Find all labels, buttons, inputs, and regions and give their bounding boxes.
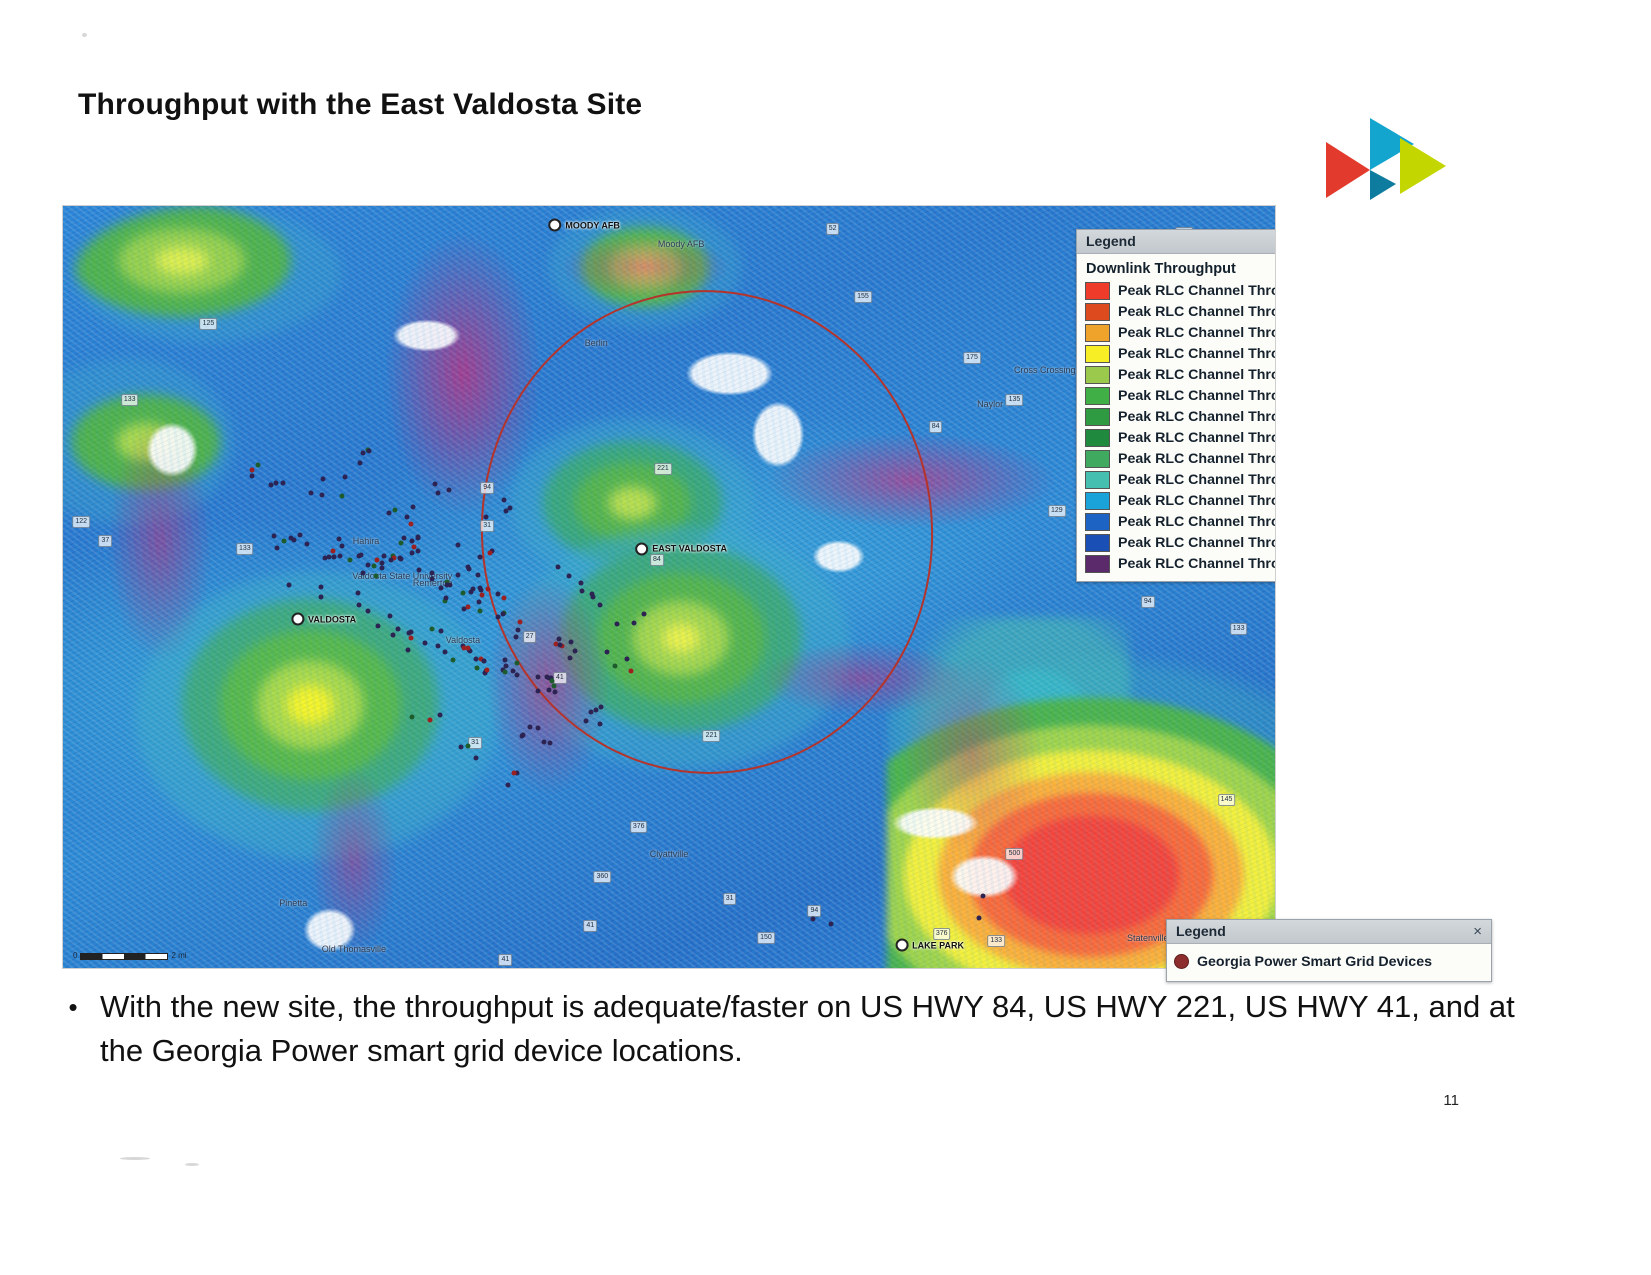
smart-grid-device-dot: [435, 490, 440, 495]
map-site-marker[interactable]: LAKE PARK: [895, 939, 964, 952]
smart-grid-device-dot: [546, 688, 551, 693]
legend-item: Peak RLC Channel Throughput (DL) (kbps) …: [1085, 301, 1276, 322]
smart-grid-device-dot: [475, 665, 480, 670]
smart-grid-device-dot: [477, 554, 482, 559]
smart-grid-device-dot: [486, 586, 491, 591]
legend-item: Peak RLC Channel Throughput (DL) (kbps) …: [1085, 427, 1276, 448]
smart-grid-device-dot: [558, 642, 563, 647]
smart-grid-device-dot: [416, 548, 421, 553]
smart-grid-device-dot: [433, 481, 438, 486]
smart-grid-device-dot: [496, 614, 501, 619]
smart-grid-device-dot: [281, 538, 286, 543]
legend-color-swatch: [1085, 534, 1110, 552]
smart-grid-device-dot: [392, 508, 397, 513]
road-shield-label: 500: [1006, 848, 1024, 860]
smart-grid-device-dot: [598, 603, 603, 608]
smart-grid-device-dot: [550, 678, 555, 683]
smart-grid-device-dot: [410, 539, 415, 544]
smart-grid-device-dot: [430, 626, 435, 631]
smart-grid-device-dot: [356, 602, 361, 607]
smart-grid-device-dot: [599, 705, 604, 710]
smart-grid-device-dot: [338, 553, 343, 558]
smart-grid-device-dot: [409, 635, 414, 640]
legend-item-label: Peak RLC Channel Throughput (DL) (kbps) …: [1118, 283, 1276, 299]
legend-item: Peak RLC Channel Throughput (DL) (kbps) …: [1085, 553, 1276, 574]
smart-grid-device-dot: [321, 477, 326, 482]
smart-grid-device-dot: [281, 480, 286, 485]
smart-grid-device-dot: [828, 921, 833, 926]
legend-item: Peak RLC Channel Throughput (DL) (kbps) …: [1085, 280, 1276, 301]
smart-grid-device-dot: [309, 491, 314, 496]
road-shield-label: 360: [593, 871, 611, 883]
devices-legend-title: Legend: [1176, 923, 1226, 939]
smart-grid-device-dot: [388, 614, 393, 619]
smart-grid-device-dot: [461, 591, 466, 596]
scale-max: 2 mi: [171, 951, 186, 960]
smart-grid-device-dot: [410, 551, 415, 556]
smart-grid-device-dot: [541, 739, 546, 744]
smart-grid-device-dot: [331, 555, 336, 560]
road-shield-label: 133: [236, 543, 254, 555]
smart-grid-device-dot: [476, 573, 481, 578]
smart-grid-device-dot: [319, 595, 324, 600]
smart-grid-device-dot: [287, 583, 292, 588]
smart-grid-device-dot: [470, 586, 475, 591]
legend-title: Legend: [1086, 233, 1136, 249]
road-shield-label: 133: [121, 394, 139, 406]
smart-grid-device-dot: [473, 756, 478, 761]
legend-item: Peak RLC Channel Throughput (DL) (kbps) …: [1085, 406, 1276, 427]
legend-color-swatch: [1085, 345, 1110, 363]
legend-item-label: Peak RLC Channel Throughput (DL) (kbps) …: [1118, 325, 1276, 341]
road-shield-label: 133: [987, 935, 1005, 947]
legend-color-swatch: [1085, 429, 1110, 447]
bullet-list: • With the new site, the throughput is a…: [62, 985, 1542, 1073]
smart-grid-device-dot: [598, 722, 603, 727]
smart-grid-device-dot: [613, 664, 618, 669]
smart-grid-device-dot: [422, 641, 427, 646]
legend-panel-downlink-throughput[interactable]: Legend × Downlink Throughput Peak RLC Ch…: [1076, 229, 1276, 582]
site-dot-icon: [291, 613, 304, 626]
smart-grid-device-dot: [376, 624, 381, 629]
legend-item: Peak RLC Channel Throughput (DL) (kbps) …: [1085, 343, 1276, 364]
road-shield-label: 94: [480, 482, 494, 494]
smart-grid-device-dot: [473, 657, 478, 662]
scan-artifact: [120, 1157, 150, 1160]
smart-grid-device-dot: [429, 570, 434, 575]
bullet-body-text: With the new site, the throughput is ade…: [100, 985, 1542, 1073]
smart-grid-device-dot: [397, 555, 402, 560]
smart-grid-device-dot: [336, 537, 341, 542]
legend-body: Downlink Throughput Peak RLC Channel Thr…: [1077, 254, 1276, 581]
road-shield-label: 145: [1218, 794, 1236, 806]
smart-grid-device-dot: [360, 450, 365, 455]
smart-grid-device-dot: [573, 648, 578, 653]
smart-grid-device-dot: [365, 563, 370, 568]
smart-grid-device-dot: [298, 532, 303, 537]
smart-grid-device-dot: [514, 634, 519, 639]
road-shield-label: 41: [498, 954, 512, 966]
legend-item-georgia-power: Georgia Power Smart Grid Devices: [1169, 951, 1483, 972]
smart-grid-device-dot: [374, 573, 379, 578]
smart-grid-device-dot: [465, 743, 470, 748]
map-place-label: Statenville: [1127, 933, 1169, 943]
list-item: • With the new site, the throughput is a…: [62, 985, 1542, 1073]
map-place-label: Old Thomasville: [322, 944, 386, 954]
smart-grid-device-dot: [288, 536, 293, 541]
site-label: LAKE PARK: [912, 940, 964, 950]
smart-grid-device-dot: [339, 494, 344, 499]
legend-color-swatch: [1085, 408, 1110, 426]
smart-grid-device-dot: [511, 770, 516, 775]
smart-grid-device-dot: [483, 515, 488, 520]
map-scale-bar: 0 2 mi: [73, 951, 187, 960]
smart-grid-device-dot: [273, 481, 278, 486]
legend-item-label: Peak RLC Channel Throughput (DL) (kbps) …: [1118, 493, 1276, 509]
map-place-label: Hahira: [353, 536, 380, 546]
smart-grid-device-dot: [366, 449, 371, 454]
smart-grid-device-dot: [589, 592, 594, 597]
smart-grid-device-dot: [501, 497, 506, 502]
smart-grid-device-dot: [466, 646, 471, 651]
legend-item-label: Peak RLC Channel Throughput (DL) (kbps) …: [1118, 388, 1276, 404]
smart-grid-device-dot: [568, 640, 573, 645]
legend-item: Peak RLC Channel Throughput (DL) (kbps) …: [1085, 385, 1276, 406]
legend-color-swatch: [1085, 282, 1110, 300]
smart-grid-device-dot: [811, 916, 816, 921]
legend-item-label: Peak RLC Channel Throughput (DL) (kbps) …: [1118, 430, 1276, 446]
smart-grid-device-dot: [584, 719, 589, 724]
smart-grid-device-dot: [429, 576, 434, 581]
smart-grid-device-dot: [548, 741, 553, 746]
smart-grid-device-dot: [396, 626, 401, 631]
page-number: 11: [1443, 1092, 1459, 1109]
smart-grid-device-dot: [535, 726, 540, 731]
smart-grid-device-dot: [605, 649, 610, 654]
devices-legend-header: Legend ×: [1167, 920, 1491, 944]
legend-color-swatch: [1085, 555, 1110, 573]
smart-grid-device-dot: [488, 551, 493, 556]
map-site-marker[interactable]: VALDOSTA: [291, 613, 356, 626]
smart-grid-device-dot: [250, 473, 255, 478]
legend-color-swatch: [1085, 492, 1110, 510]
smart-grid-device-dot: [501, 612, 506, 617]
road-shield-label: 94: [808, 905, 822, 917]
scan-artifact: [82, 33, 87, 37]
smart-grid-device-dot: [428, 718, 433, 723]
coverage-map[interactable]: MOODY AFBEAST VALDOSTAVALDOSTALAKE PARKM…: [62, 205, 1276, 969]
smart-grid-device-dot: [465, 604, 470, 609]
scan-artifact: [185, 1163, 199, 1166]
smart-grid-device-dot: [588, 709, 593, 714]
legend-color-swatch: [1085, 513, 1110, 531]
road-shield-label: 376: [630, 821, 648, 833]
smart-grid-device-dot: [459, 744, 464, 749]
smart-grid-device-dot: [502, 658, 507, 663]
logo-svg: [1326, 118, 1468, 200]
smart-grid-device-dot: [445, 583, 450, 588]
brand-triangles-logo: [1326, 118, 1468, 200]
legend-item-label: Peak RLC Channel Throughput (DL) (kbps) …: [1118, 535, 1276, 551]
site-dot-icon: [548, 219, 561, 232]
smart-grid-device-dot: [518, 619, 523, 624]
smart-grid-device-dot: [508, 505, 513, 510]
smart-grid-device-dot: [632, 620, 637, 625]
smart-grid-device-dot: [331, 548, 336, 553]
bullet-marker: •: [62, 985, 84, 1029]
legend-item: Peak RLC Channel Throughput (DL) (kbps) …: [1085, 532, 1276, 553]
legend-panel-smart-grid-devices[interactable]: Legend × Georgia Power Smart Grid Device…: [1166, 919, 1492, 982]
smart-grid-device-dot: [409, 522, 414, 527]
smart-grid-device-dot: [477, 585, 482, 590]
map-place-label: Moody AFB: [658, 239, 705, 249]
legend-item-label: Peak RLC Channel Throughput (DL) (kbps) …: [1118, 451, 1276, 467]
legend-item: Peak RLC Channel Throughput (DL) (kbps) …: [1085, 448, 1276, 469]
legend-group-title: Downlink Throughput: [1086, 261, 1276, 277]
legend-color-swatch: [1085, 471, 1110, 489]
road-shield-label: 122: [72, 516, 90, 528]
smart-grid-device-dot: [304, 541, 309, 546]
road-shield-label: 84: [650, 554, 664, 566]
site-label: VALDOSTA: [308, 614, 356, 624]
legend-item-label: Peak RLC Channel Throughput (DL) (kbps) …: [1118, 514, 1276, 530]
smart-grid-device-dot: [503, 670, 508, 675]
legend-item-label: Peak RLC Channel Throughput (DL) (kbps) …: [1118, 472, 1276, 488]
smart-grid-device-dot: [388, 558, 393, 563]
legend-color-swatch: [1085, 303, 1110, 321]
map-place-label: Pinetta: [279, 898, 307, 908]
smart-grid-device-dot: [624, 656, 629, 661]
smart-grid-device-dot: [380, 561, 385, 566]
smart-grid-device-dot: [536, 688, 541, 693]
smart-grid-device-dot: [439, 628, 444, 633]
legend-item: Peak RLC Channel Throughput (DL) (kbps) …: [1085, 364, 1276, 385]
smart-grid-device-dot: [578, 580, 583, 585]
smart-grid-device-dot: [485, 667, 490, 672]
smart-grid-device-dot: [398, 541, 403, 546]
road-shield-label: 129: [1048, 505, 1066, 517]
road-shield-label: 135: [1006, 394, 1024, 406]
smart-grid-device-dot: [504, 509, 509, 514]
smart-grid-device-dot: [443, 650, 448, 655]
map-place-label: Cross Crossing: [1014, 365, 1076, 375]
smart-grid-device-dot: [615, 622, 620, 627]
site-label: EAST VALDOSTA: [652, 544, 727, 554]
smart-grid-device-dot: [506, 782, 511, 787]
smart-grid-device-dot: [455, 572, 460, 577]
smart-grid-device-dot: [451, 658, 456, 663]
smart-grid-device-dot: [371, 564, 376, 569]
road-shield-label: 31: [480, 520, 494, 532]
road-shield-label: 37: [99, 535, 113, 547]
smart-grid-device-dot: [271, 533, 276, 538]
smart-grid-device-dot: [339, 544, 344, 549]
smart-grid-device-dot: [404, 515, 409, 520]
legend-item-label: Peak RLC Channel Throughput (DL) (kbps) …: [1118, 409, 1276, 425]
legend-items-list: Peak RLC Channel Throughput (DL) (kbps) …: [1085, 280, 1276, 574]
smart-grid-device-dot: [386, 510, 391, 515]
road-shield-label: 41: [583, 920, 597, 932]
road-shield-label: 125: [200, 318, 218, 330]
smart-grid-device-dot: [551, 683, 556, 688]
smart-grid-device-dot: [515, 672, 520, 677]
road-shield-label: 150: [757, 932, 775, 944]
map-place-label: Berlin: [585, 338, 608, 348]
map-site-marker[interactable]: MOODY AFB: [548, 219, 620, 232]
smart-grid-device-dot: [438, 586, 443, 591]
smart-grid-device-dot: [455, 542, 460, 547]
smart-grid-device-dot: [520, 733, 525, 738]
smart-grid-device-dot: [348, 558, 353, 563]
road-shield-label: 94: [1141, 596, 1155, 608]
smart-grid-device-dot: [358, 553, 363, 558]
map-place-label: Clyattville: [650, 849, 689, 859]
smart-grid-device-dot: [374, 558, 379, 563]
smart-grid-device-dot: [461, 645, 466, 650]
site-dot-icon: [895, 939, 908, 952]
smart-grid-device-dot: [579, 589, 584, 594]
smart-grid-device-dot: [555, 565, 560, 570]
smart-grid-device-dot: [319, 493, 324, 498]
road-shield-label: 27: [523, 631, 537, 643]
smart-grid-device-dot: [536, 674, 541, 679]
smart-grid-device-dot: [366, 609, 371, 614]
smart-grid-device-dot: [514, 661, 519, 666]
smart-grid-device-dot: [496, 591, 501, 596]
map-site-marker[interactable]: EAST VALDOSTA: [635, 542, 727, 555]
legend-color-swatch: [1085, 324, 1110, 342]
legend-item-label: Georgia Power Smart Grid Devices: [1197, 954, 1432, 970]
legend-item: Peak RLC Channel Throughput (DL) (kbps) …: [1085, 511, 1276, 532]
smart-grid-device-dot: [319, 584, 324, 589]
scale-bar-graphic: [80, 953, 168, 960]
road-shield-label: 221: [703, 730, 721, 742]
smart-grid-device-dot: [479, 592, 484, 597]
legend-item-label: Peak RLC Channel Throughput (DL) (kbps) …: [1118, 367, 1276, 383]
smart-grid-device-dot: [567, 655, 572, 660]
smart-grid-device-dot: [361, 570, 366, 575]
road-shield-label: 175: [963, 352, 981, 364]
legend-header: Legend ×: [1077, 230, 1276, 254]
smart-grid-device-dot: [527, 725, 532, 730]
smart-grid-device-dot: [274, 545, 279, 550]
smart-grid-device-dot: [415, 535, 420, 540]
legend-item-label: Peak RLC Channel Throughput (DL) (kbps) …: [1118, 304, 1276, 320]
road-shield-label: 133: [1230, 623, 1248, 635]
smart-grid-device-dot: [501, 595, 506, 600]
site-label: MOODY AFB: [565, 220, 620, 230]
close-icon[interactable]: ×: [1471, 924, 1484, 939]
smart-grid-device-dot: [477, 600, 482, 605]
road-shield-label: 155: [854, 291, 872, 303]
road-shield-label: 221: [654, 463, 672, 475]
map-place-label: Naylor: [977, 399, 1003, 409]
smart-grid-device-dot: [629, 668, 634, 673]
smart-grid-device-dot: [545, 675, 550, 680]
legend-color-swatch: [1085, 387, 1110, 405]
smart-grid-device-dot: [255, 463, 260, 468]
legend-color-swatch: [1085, 366, 1110, 384]
scale-zero: 0: [73, 951, 77, 960]
smart-grid-device-dot: [566, 574, 571, 579]
smart-grid-device-dot: [327, 554, 332, 559]
smart-grid-device-dot: [390, 633, 395, 638]
smart-grid-device-dot: [249, 467, 254, 472]
road-shield-label: 84: [929, 421, 943, 433]
smart-grid-device-dot: [417, 568, 422, 573]
road-shield-label: 376: [933, 928, 951, 940]
smart-grid-device-dot: [594, 708, 599, 713]
smart-grid-device-dot: [976, 915, 981, 920]
smart-grid-device-dot: [438, 712, 443, 717]
smart-grid-device-dot: [515, 627, 520, 632]
smart-grid-device-dot: [552, 690, 557, 695]
smart-grid-device-dot: [410, 714, 415, 719]
smart-grid-device-dot: [443, 596, 448, 601]
smart-grid-device-dot: [342, 475, 347, 480]
smart-grid-device-dot: [447, 488, 452, 493]
smart-grid-device-dot: [356, 591, 361, 596]
smart-grid-device-dot: [642, 611, 647, 616]
page-title: Throughput with the East Valdosta Site: [78, 88, 642, 122]
legend-item: Peak RLC Channel Throughput (DL) (kbps) …: [1085, 322, 1276, 343]
devices-legend-body: Georgia Power Smart Grid Devices: [1167, 944, 1491, 981]
smart-grid-device-dot: [980, 894, 985, 899]
site-dot-icon: [635, 542, 648, 555]
smart-grid-device-dot: [467, 566, 472, 571]
road-shield-label: 31: [468, 737, 482, 749]
road-shield-label: 31: [723, 893, 737, 905]
legend-item-label: Peak RLC Channel Throughput (DL) (kbps) …: [1118, 556, 1276, 572]
smart-grid-device-dot: [435, 643, 440, 648]
legend-color-swatch: [1085, 450, 1110, 468]
smart-grid-device-dot: [410, 504, 415, 509]
smart-grid-device-dot: [358, 460, 363, 465]
road-shield-label: 52: [826, 223, 840, 235]
legend-item: Peak RLC Channel Throughput (DL) (kbps) …: [1085, 490, 1276, 511]
legend-item-label: Peak RLC Channel Throughput (DL) (kbps) …: [1118, 346, 1276, 362]
smart-grid-device-dot: [381, 553, 386, 558]
device-marker-icon: [1174, 954, 1189, 969]
smart-grid-device-dot: [477, 609, 482, 614]
smart-grid-device-dot: [405, 647, 410, 652]
smart-grid-device-dot: [481, 659, 486, 664]
legend-item: Peak RLC Channel Throughput (DL) (kbps) …: [1085, 469, 1276, 490]
